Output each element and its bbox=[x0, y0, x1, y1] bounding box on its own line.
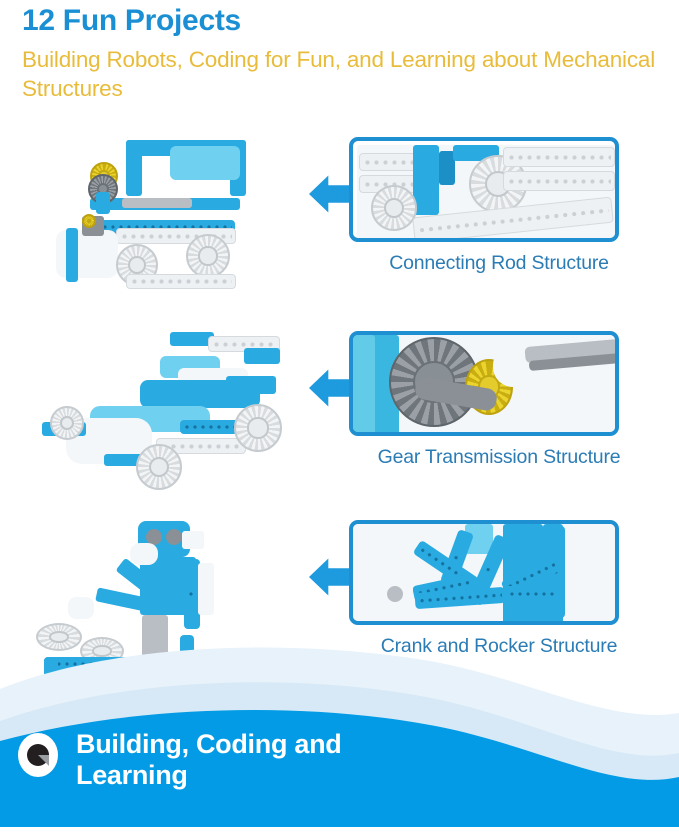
project-section-1: Connecting Rod Structure bbox=[0, 132, 679, 332]
robot-photo-blue-truck bbox=[30, 132, 290, 322]
page-header: 12 Fun Projects Building Robots, Coding … bbox=[0, 0, 679, 104]
callout-label: Gear Transmission Structure bbox=[349, 446, 649, 469]
eye-pie-icon bbox=[18, 733, 58, 777]
banner-text-line-1: Building, Coding and bbox=[76, 729, 341, 760]
callout-image-box bbox=[349, 137, 619, 242]
banner-text: Building, Coding and Learning bbox=[76, 729, 341, 792]
callout-image-box bbox=[349, 520, 619, 625]
wheel bbox=[234, 404, 282, 452]
page-title: 12 Fun Projects bbox=[22, 4, 657, 39]
callout-gear-transmission: Gear Transmission Structure bbox=[309, 326, 679, 516]
wheel bbox=[136, 444, 182, 490]
callout-image-box bbox=[349, 331, 619, 436]
project-section-2: Gear Transmission Structure bbox=[0, 326, 679, 526]
wheel-gear bbox=[186, 234, 230, 278]
bottom-banner: Building, Coding and Learning bbox=[0, 707, 679, 827]
callout-connecting-rod: Connecting Rod Structure bbox=[309, 132, 679, 322]
robot-photo-race-car bbox=[30, 326, 290, 516]
wheel bbox=[50, 406, 84, 440]
page-subtitle: Building Robots, Coding for Fun, and Lea… bbox=[22, 45, 657, 104]
banner-text-line-2: Learning bbox=[76, 760, 341, 791]
callout-label: Connecting Rod Structure bbox=[349, 252, 649, 275]
